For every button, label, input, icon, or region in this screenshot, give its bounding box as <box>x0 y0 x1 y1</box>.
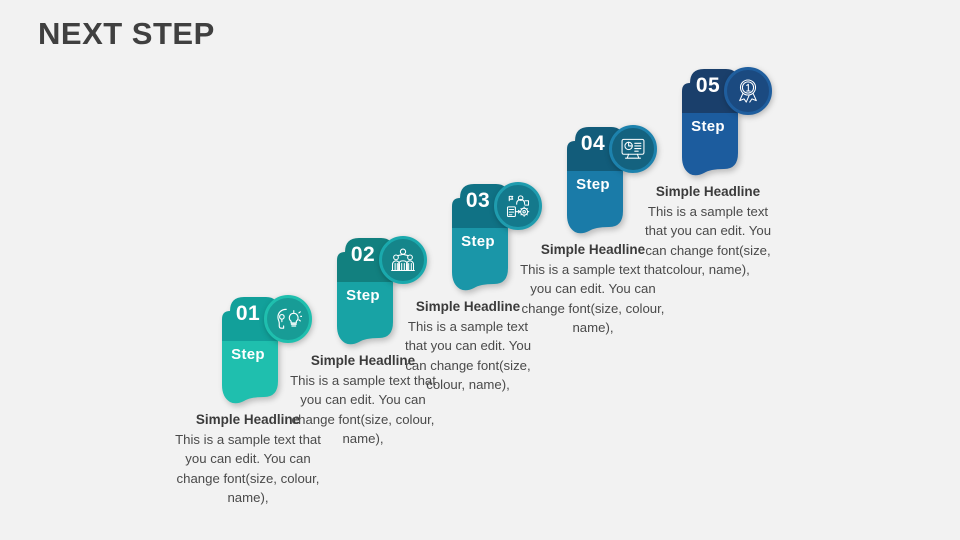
step-body-03: This is a sample text that you can edit.… <box>404 317 532 394</box>
people-group-icon <box>389 246 417 274</box>
banner-bottom-fill <box>563 171 623 235</box>
banner-bottom-fill <box>678 113 738 177</box>
step-icon-badge-04[interactable] <box>609 125 657 173</box>
dashboard-monitor-icon <box>619 135 647 163</box>
step-icon-badge-05[interactable] <box>724 67 772 115</box>
step-body-05: This is a sample text that you can edit.… <box>642 202 774 279</box>
step-icon-badge-03[interactable] <box>494 182 542 230</box>
head-lightbulb-icon <box>274 305 302 333</box>
banner-bottom-fill <box>333 282 393 346</box>
slide-canvas: NEXT STEP 01 Step <box>0 0 960 540</box>
step-text-block-03: Simple Headline This is a sample text th… <box>404 297 532 394</box>
banner-bottom-fill <box>218 341 278 405</box>
step-text-block-05: Simple Headline This is a sample text th… <box>642 182 774 279</box>
award-ribbon-icon <box>734 77 762 105</box>
banner-bottom-fill <box>448 228 508 292</box>
page-title: NEXT STEP <box>38 16 215 52</box>
step-headline-03: Simple Headline <box>404 297 532 316</box>
step-icon-badge-02[interactable] <box>379 236 427 284</box>
step-icon-badge-01[interactable] <box>264 295 312 343</box>
process-gear-icon <box>504 192 532 220</box>
step-headline-05: Simple Headline <box>642 182 774 201</box>
